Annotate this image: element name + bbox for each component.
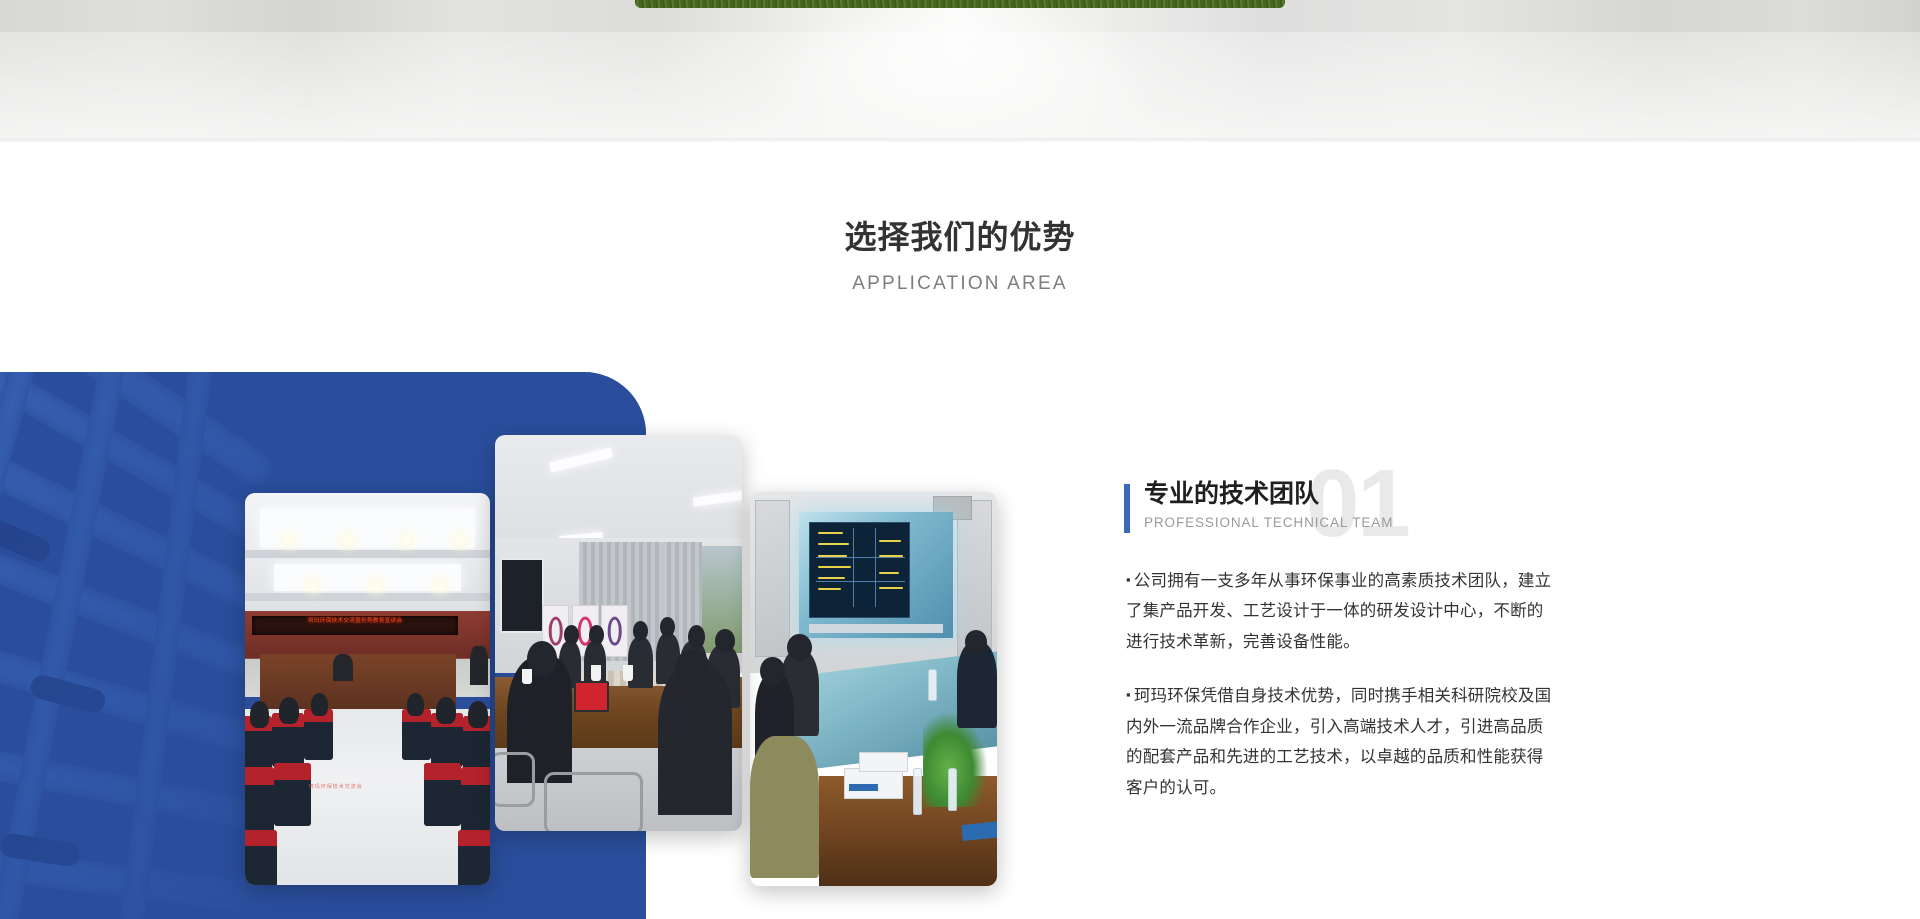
- led-banner-text: 珂玛环保技术交流暨形势教育宣讲会: [252, 616, 458, 634]
- photo-auditorium-conference-hall[interactable]: 珂玛环保技术交流暨形势教育宣讲会 珂玛环保技术交流会: [245, 493, 490, 885]
- feature-subtitle: PROFESSIONAL TECHNICAL TEAM: [1144, 515, 1686, 530]
- feature-content-column: 01 专业的技术团队 PROFESSIONAL TECHNICAL TEAM ▪…: [1126, 480, 1686, 803]
- projector-screen: [799, 512, 952, 638]
- feature-title: 专业的技术团队: [1144, 480, 1686, 510]
- photo-projector-presentation-room[interactable]: [750, 492, 997, 886]
- photo-2-content: [495, 435, 742, 831]
- led-banner: 珂玛环保技术交流暨形势教育宣讲会: [252, 616, 458, 634]
- hero-banner-image: [0, 0, 1920, 142]
- hero-bottom-edge: [0, 138, 1920, 142]
- paragraph-1-text: 公司拥有一支多年从事环保事业的高素质技术团队，建立了集产品开发、工艺设计于一体的…: [1126, 572, 1551, 651]
- page-root: 选择我们的优势 APPLICATION AREA: [0, 0, 1920, 919]
- section-subheading: APPLICATION AREA: [0, 273, 1920, 295]
- hero-floor: [0, 32, 1920, 142]
- section-heading: 选择我们的优势: [0, 212, 1920, 258]
- bullet-marker-1: ▪: [1126, 572, 1131, 587]
- photo-3-content: [750, 492, 997, 886]
- feature-paragraph-1: ▪公司拥有一支多年从事环保事业的高素质技术团队，建立了集产品开发、工艺设计于一体…: [1126, 566, 1554, 658]
- cad-drawing: [809, 522, 910, 618]
- hero-grass-strip: [635, 0, 1285, 8]
- feature-paragraph-2: ▪珂玛环保凭借自身技术优势，同时携手相关科研院校及国内外一流品牌合作企业，引入高…: [1126, 681, 1554, 803]
- photo-1-content: 珂玛环保技术交流暨形势教育宣讲会 珂玛环保技术交流会: [245, 493, 490, 885]
- photo-meeting-room-discussion[interactable]: [495, 435, 742, 831]
- title-accent-bar: [1124, 484, 1130, 533]
- paragraph-2-text: 珂玛环保凭借自身技术优势，同时携手相关科研院校及国内外一流品牌合作企业，引入高端…: [1126, 687, 1551, 797]
- bullet-marker-2: ▪: [1126, 687, 1131, 702]
